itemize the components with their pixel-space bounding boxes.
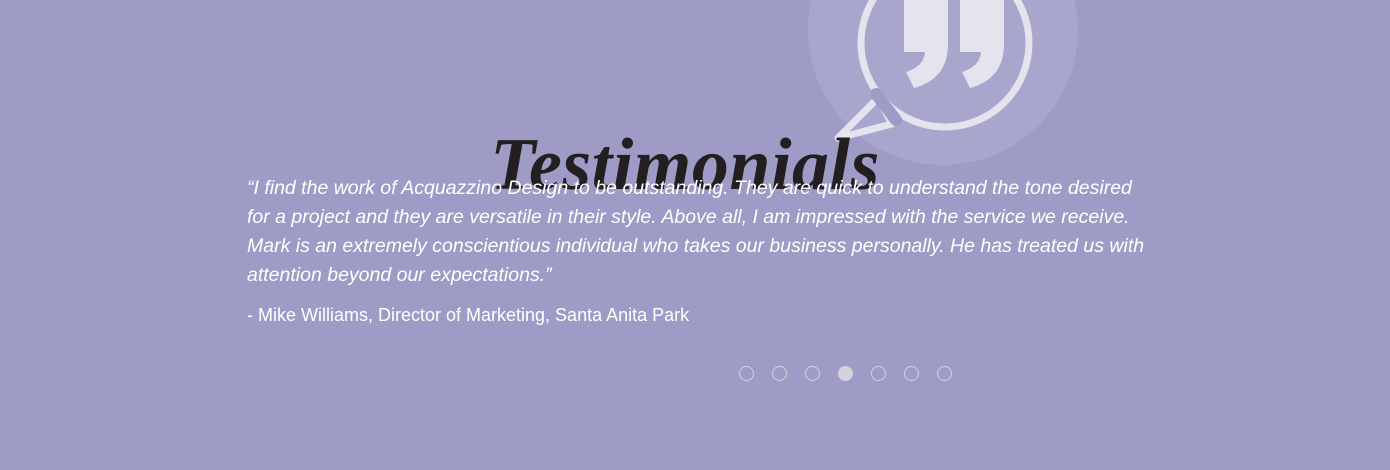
pagination-dot-5[interactable] (871, 366, 886, 381)
testimonial-quote: “I find the work of Acquazzino Design to… (247, 174, 1157, 290)
pagination-dot-1[interactable] (739, 366, 754, 381)
pagination-dot-4[interactable] (838, 366, 853, 381)
quote-line: “I find the work of Acquazzino Design to… (247, 174, 1157, 203)
testimonials-section: Testimonials “I find the work of Acquazz… (0, 0, 1390, 470)
pagination-dot-3[interactable] (805, 366, 820, 381)
quote-line: Mark is an extremely conscientious indiv… (247, 232, 1157, 261)
testimonial-attribution: - Mike Williams, Director of Marketing, … (247, 303, 689, 327)
quote-line: for a project and they are versatile in … (247, 203, 1157, 232)
pagination-dot-6[interactable] (904, 366, 919, 381)
carousel-pagination[interactable] (739, 366, 952, 381)
pagination-dot-7[interactable] (937, 366, 952, 381)
pagination-dot-2[interactable] (772, 366, 787, 381)
quote-line: attention beyond our expectations.” (247, 261, 1157, 290)
